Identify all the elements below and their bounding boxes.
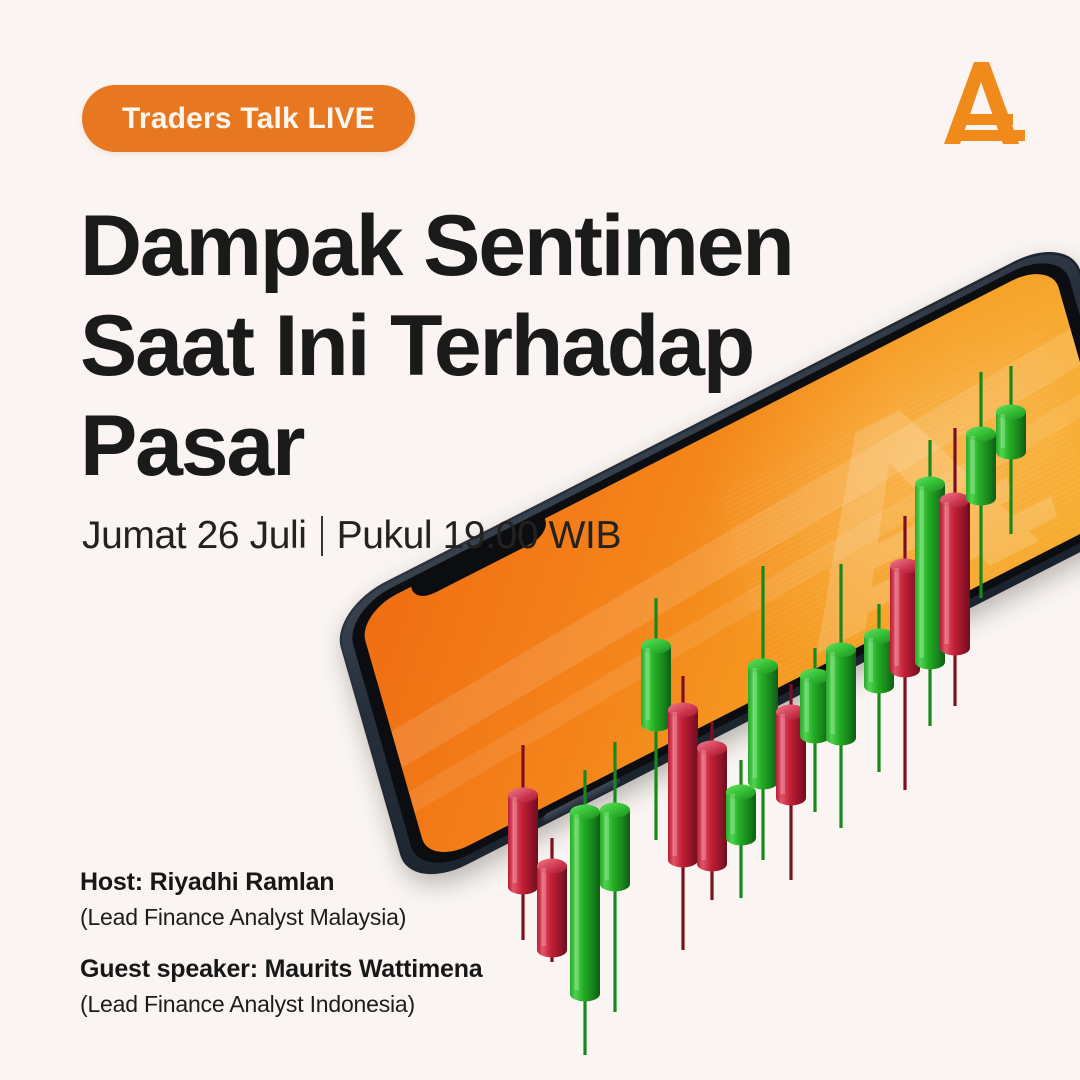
schedule-separator — [321, 516, 323, 556]
candlestick-12 — [826, 564, 856, 828]
headline-line-2: Saat Ini Terhadap — [80, 296, 840, 396]
candlestick-1 — [508, 745, 538, 940]
guest-name: Guest speaker: Maurits Wattimena — [80, 955, 483, 984]
candlestick-4 — [600, 742, 630, 1012]
guest-block: Guest speaker: Maurits Wattimena (Lead F… — [80, 955, 483, 1018]
live-badge: Traders Talk LIVE — [82, 85, 415, 152]
headline-line-1: Dampak Sentimen — [80, 196, 840, 296]
host-title: (Lead Finance Analyst Malaysia) — [80, 904, 406, 931]
logo-a-mark — [933, 58, 1033, 160]
schedule-line: Jumat 26 Juli Pukul 19.00 WIB — [82, 514, 621, 558]
candlestick-13 — [864, 604, 894, 772]
host-name: Host: Riyadhi Ramlan — [80, 868, 406, 897]
live-badge-label: Traders Talk LIVE — [122, 102, 375, 136]
page-title: Dampak Sentimen Saat Ini Terhadap Pasar — [80, 196, 840, 496]
headline-line-3: Pasar — [80, 396, 840, 496]
candlestick-17 — [966, 372, 996, 598]
candlestick-7 — [697, 722, 727, 900]
host-block: Host: Riyadhi Ramlan (Lead Finance Analy… — [80, 868, 406, 931]
schedule-time: Pukul 19.00 WIB — [337, 514, 621, 558]
candlestick-3 — [570, 770, 600, 1055]
guest-title: (Lead Finance Analyst Indonesia) — [80, 991, 483, 1018]
candlestick-5 — [641, 598, 671, 840]
promo-poster: Traders Talk LIVE Dampak Sentimen Saat I… — [0, 0, 1080, 1080]
candlestick-16 — [940, 428, 970, 706]
schedule-date: Jumat 26 Juli — [82, 514, 307, 558]
candlestick-18 — [996, 366, 1026, 534]
candlestick-6 — [668, 676, 698, 950]
candlestick-2 — [537, 838, 567, 962]
